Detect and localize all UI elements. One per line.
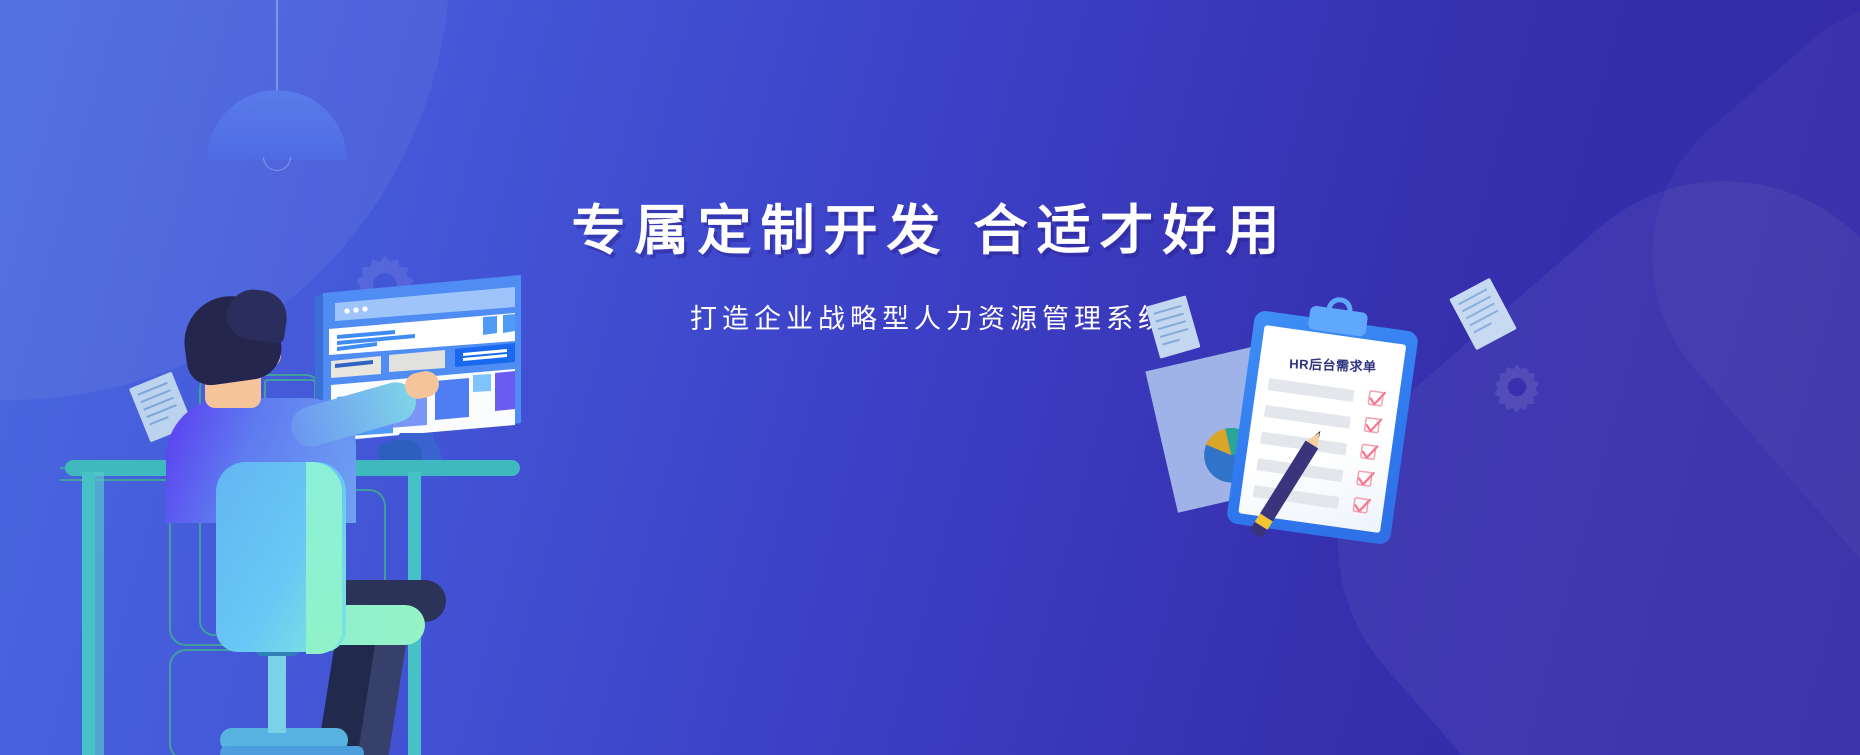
checklist-row xyxy=(1268,378,1355,402)
checkbox-checked-icon[interactable] xyxy=(1363,416,1383,436)
hr-requirements-clipboard-illustration: HR后台需求单 xyxy=(1160,300,1460,600)
clipboard-title: HR后台需求单 xyxy=(1274,353,1393,376)
pencil-body xyxy=(1260,441,1318,522)
checkbox-checked-icon[interactable] xyxy=(1351,496,1371,516)
clipboard: HR后台需求单 xyxy=(1226,310,1419,546)
desk-workspace-illustration xyxy=(60,250,700,755)
lamp-shade xyxy=(207,90,347,160)
clipboard-paper: HR后台需求单 xyxy=(1238,325,1406,533)
checklist-row xyxy=(1264,405,1351,429)
checkbox-checked-icon[interactable] xyxy=(1359,443,1379,463)
chair-wheels xyxy=(212,742,372,755)
desk-leg-shadow xyxy=(95,472,104,755)
lamp-bulb xyxy=(263,157,291,171)
desk-leg-left xyxy=(82,472,95,755)
checkbox-checked-icon[interactable] xyxy=(1355,469,1375,489)
hero-banner: 专属定制开发 合适才好用 打造企业战略型人力资源管理系统 xyxy=(0,0,1860,755)
computer-mouse xyxy=(378,440,422,462)
gear-icon-right xyxy=(1490,360,1544,414)
pendant-lamp-icon xyxy=(207,0,347,175)
chair-backrest-edge xyxy=(306,462,342,654)
lamp-cord xyxy=(276,0,278,92)
checkbox-checked-icon[interactable] xyxy=(1366,389,1386,409)
chair-stem xyxy=(268,648,286,733)
floating-document-icon-middle xyxy=(1145,295,1200,358)
